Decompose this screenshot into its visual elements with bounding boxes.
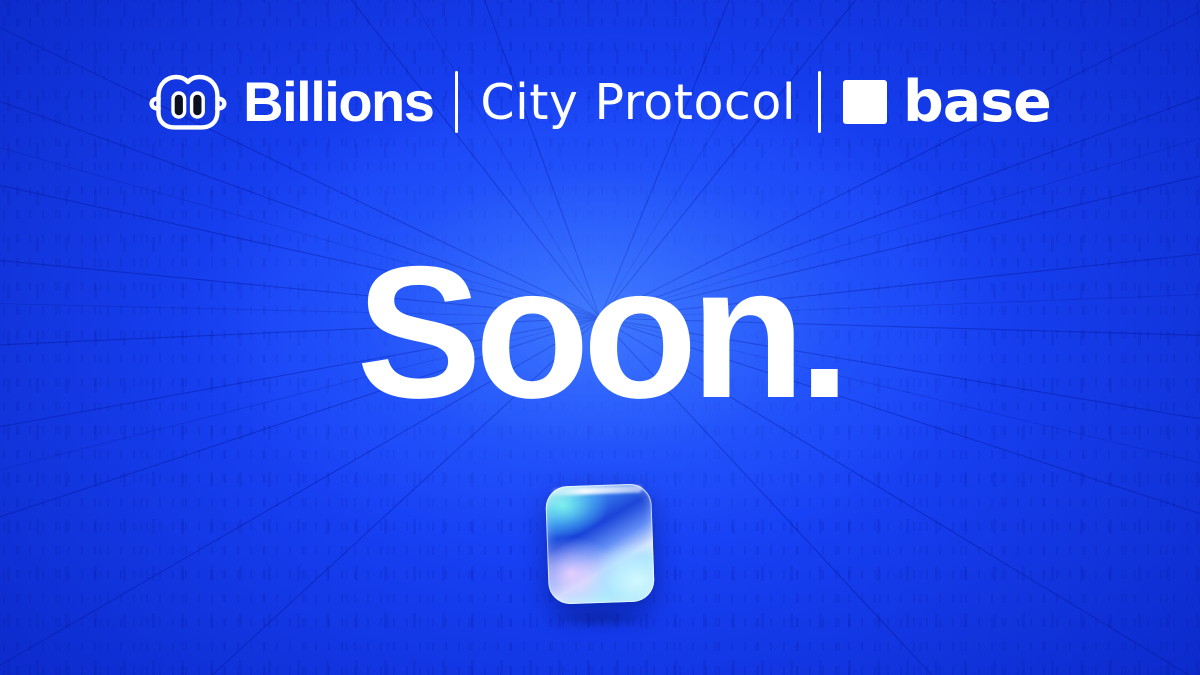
brand-base: base (843, 74, 1051, 131)
base-square-icon (843, 80, 887, 124)
brand-city-protocol: City Protocol (480, 78, 796, 127)
brand-billions: Billions (149, 71, 433, 133)
billions-wordmark: Billions (243, 74, 433, 130)
glass-card-artwork (545, 483, 655, 605)
lockup-divider-1 (455, 71, 458, 133)
partner-logo-lockup: Billions City Protocol base (0, 64, 1200, 140)
lockup-divider-2 (818, 71, 821, 133)
glass-card-shadow (544, 610, 656, 626)
glass-card-edge (545, 483, 655, 605)
city-protocol-wordmark: City Protocol (480, 78, 796, 127)
announcement-canvas: Billions City Protocol base Soon. (0, 0, 1200, 675)
page-headline: Soon. (0, 238, 1200, 426)
billions-robot-head-icon (149, 71, 227, 133)
base-wordmark: base (903, 74, 1051, 131)
